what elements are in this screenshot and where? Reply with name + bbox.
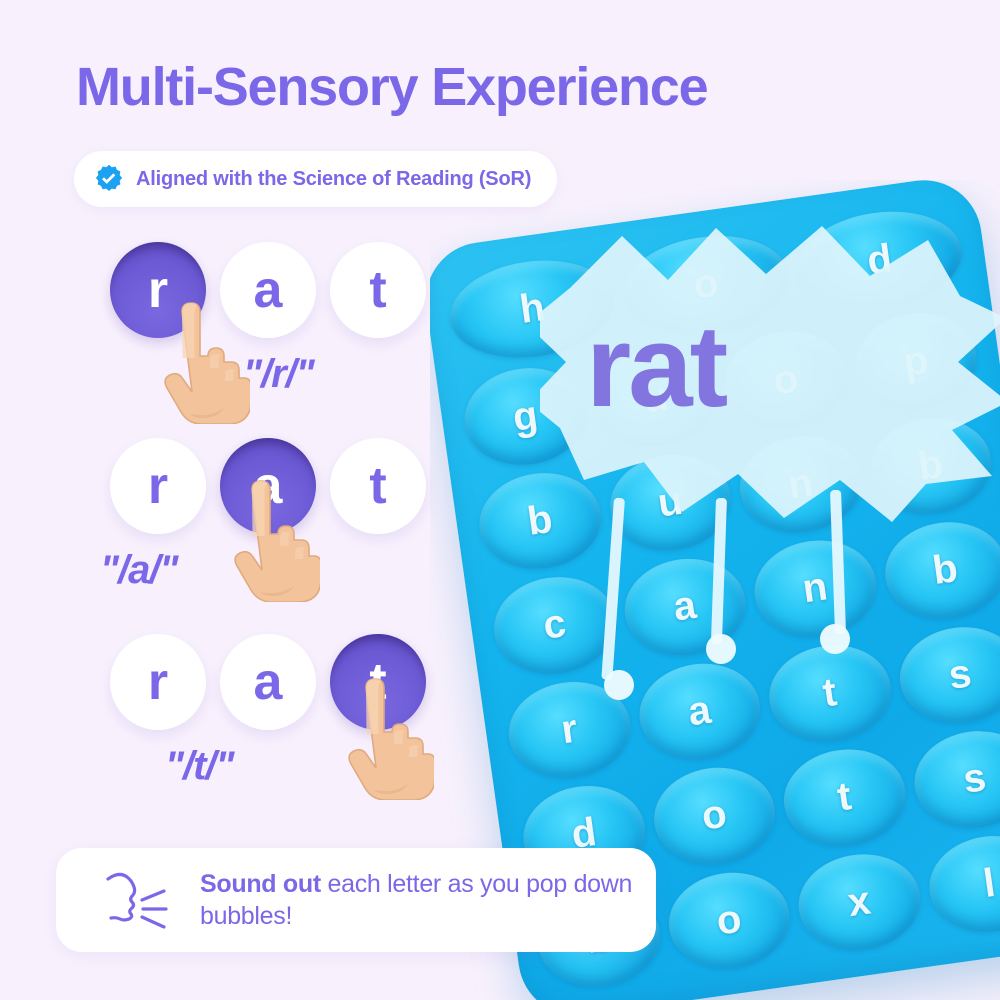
- phoneme-label-row1: "/r/": [243, 352, 314, 397]
- page-title: Multi-Sensory Experience: [76, 58, 707, 117]
- pop-it-bubble-t[interactable]: t: [778, 742, 912, 853]
- sor-badge-pill: Aligned with the Science of Reading (SoR…: [74, 151, 557, 207]
- speech-burst: rat: [540, 222, 1000, 522]
- caption-bold-text: Sound out: [200, 870, 321, 898]
- phoneme-label-row2: "/a/": [100, 548, 177, 593]
- letter-bubble-r-row2[interactable]: r: [110, 438, 206, 534]
- letter-bubble-t-row1[interactable]: t: [330, 242, 426, 338]
- pop-it-bubble-l[interactable]: l: [923, 828, 1000, 939]
- pop-it-bubble-s[interactable]: s: [893, 619, 1000, 730]
- letter-bubble-a-row3[interactable]: a: [220, 634, 316, 730]
- pop-it-bubble-a[interactable]: a: [633, 656, 767, 767]
- sound-out-caption-card: Sound out each letter as you pop down bu…: [56, 848, 656, 952]
- verified-badge-icon: [94, 164, 124, 194]
- pop-it-bubble-x[interactable]: x: [792, 846, 926, 957]
- pop-it-bubble-s[interactable]: s: [908, 724, 1000, 835]
- letter-bubble-r-row3[interactable]: r: [110, 634, 206, 730]
- pop-it-bubble-o[interactable]: o: [662, 865, 796, 976]
- pop-it-bubble-b[interactable]: b: [879, 515, 1000, 626]
- pop-it-bubble-t[interactable]: t: [763, 638, 897, 749]
- pointing-hand-icon-row3: [330, 676, 434, 800]
- pointing-hand-icon-row2: [216, 478, 320, 602]
- pop-it-bubble-n[interactable]: n: [748, 533, 882, 644]
- pointing-hand-icon-row1: [146, 300, 250, 424]
- speaking-head-icon: [98, 865, 172, 935]
- phoneme-label-row3: "/t/": [165, 744, 233, 789]
- burst-word: rat: [586, 308, 725, 424]
- letter-bubble-t-row2[interactable]: t: [330, 438, 426, 534]
- poster-canvas: hodguopbunbcanbratsdotsboxl rat Multi-Se…: [0, 0, 1000, 1000]
- sor-badge-label: Aligned with the Science of Reading (SoR…: [136, 168, 531, 191]
- sound-out-caption-text: Sound out each letter as you pop down bu…: [200, 868, 656, 932]
- pop-it-bubble-o[interactable]: o: [647, 760, 781, 871]
